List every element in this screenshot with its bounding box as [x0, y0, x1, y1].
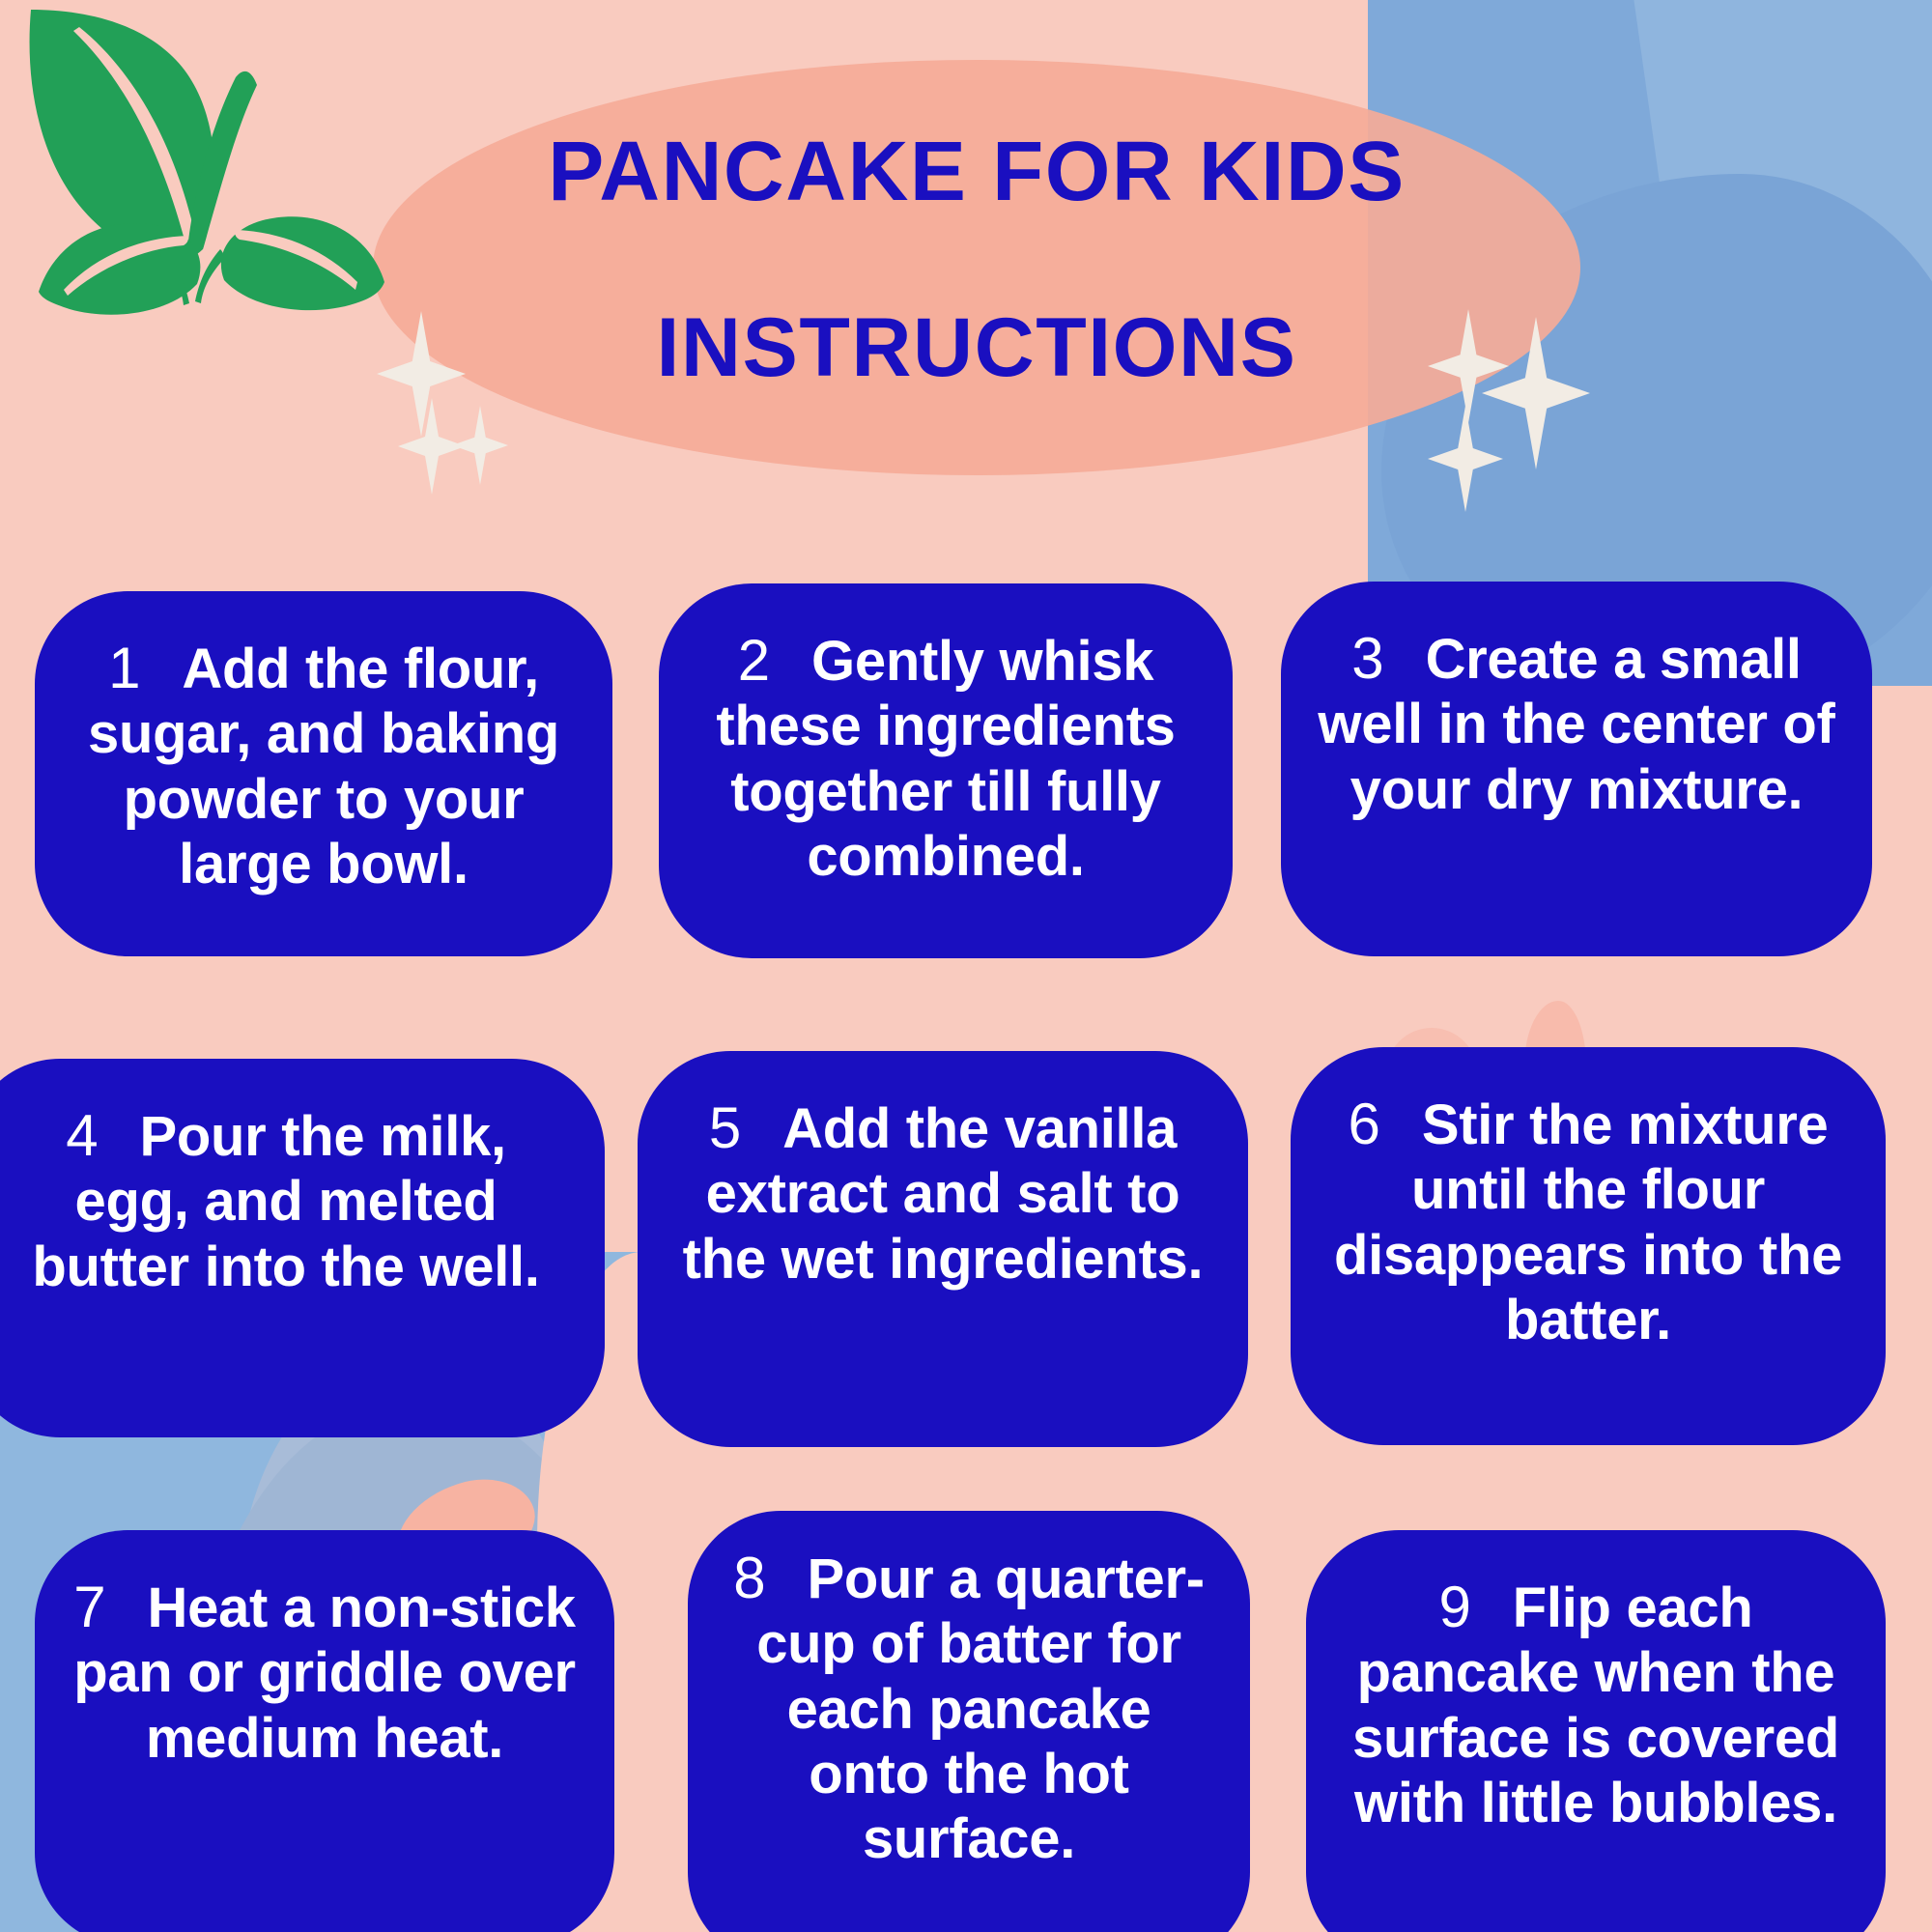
card-content: 1 Add the flour, sugar, and baking powde… [35, 591, 612, 956]
step-number: 3 [1351, 626, 1383, 691]
instruction-card-5[interactable]: 5 Add the vanilla extract and salt to th… [638, 1051, 1248, 1447]
header-block: PANCAKE FOR KIDS INSTRUCTIONS [373, 93, 1580, 440]
step-text: Create a small well in the center of you… [1318, 628, 1834, 821]
step-text: Pour a quarter-cup of batter for each pa… [756, 1548, 1205, 1870]
instruction-card-1[interactable]: 1 Add the flour, sugar, and baking powde… [35, 591, 612, 956]
step-number: 5 [709, 1095, 741, 1160]
leaf-logo-icon [14, 6, 410, 325]
step-text: Pour the milk, egg, and melted butter in… [32, 1105, 539, 1298]
step-number: 8 [733, 1546, 765, 1610]
step-number: 4 [66, 1103, 98, 1168]
instruction-card-9[interactable]: 9 Flip each pancake when the surface is … [1306, 1530, 1886, 1932]
step-text: Gently whisk these ingredients together … [716, 630, 1175, 888]
step-text: Stir the mixture until the flour disappe… [1334, 1094, 1842, 1351]
card-content: 8 Pour a quarter-cup of batter for each … [688, 1511, 1250, 1932]
poster-canvas: PANCAKE FOR KIDS INSTRUCTIONS 1 Add the … [0, 0, 1932, 1932]
instruction-card-3[interactable]: 3 Create a small well in the center of y… [1281, 582, 1872, 956]
step-text: Add the flour, sugar, and baking powder … [88, 638, 559, 895]
page-title: PANCAKE FOR KIDS [548, 129, 1406, 213]
card-content: 4 Pour the milk, egg, and melted butter … [0, 1059, 605, 1437]
card-content: 9 Flip each pancake when the surface is … [1306, 1530, 1886, 1932]
step-text: Add the vanilla extract and salt to the … [683, 1097, 1204, 1291]
step-number: 2 [738, 628, 770, 693]
step-text: Heat a non-stick pan or griddle over med… [73, 1577, 576, 1770]
step-number: 6 [1349, 1092, 1380, 1156]
step-text: Flip each pancake when the surface is co… [1352, 1577, 1839, 1834]
instruction-card-2[interactable]: 2 Gently whisk these ingredients togethe… [659, 583, 1233, 958]
page-subtitle: INSTRUCTIONS [657, 306, 1297, 389]
instruction-card-8[interactable]: 8 Pour a quarter-cup of batter for each … [688, 1511, 1250, 1932]
step-number: 7 [73, 1575, 105, 1639]
instruction-card-6[interactable]: 6 Stir the mixture until the flour disap… [1291, 1047, 1886, 1445]
card-content: 3 Create a small well in the center of y… [1281, 582, 1872, 956]
step-number: 1 [108, 636, 140, 700]
step-number: 9 [1439, 1575, 1471, 1639]
instruction-card-7[interactable]: 7 Heat a non-stick pan or griddle over m… [35, 1530, 614, 1932]
card-content: 7 Heat a non-stick pan or griddle over m… [35, 1530, 614, 1932]
card-content: 5 Add the vanilla extract and salt to th… [638, 1051, 1248, 1447]
card-content: 2 Gently whisk these ingredients togethe… [659, 583, 1233, 958]
card-content: 6 Stir the mixture until the flour disap… [1291, 1047, 1886, 1445]
instruction-card-4[interactable]: 4 Pour the milk, egg, and melted butter … [0, 1059, 605, 1437]
